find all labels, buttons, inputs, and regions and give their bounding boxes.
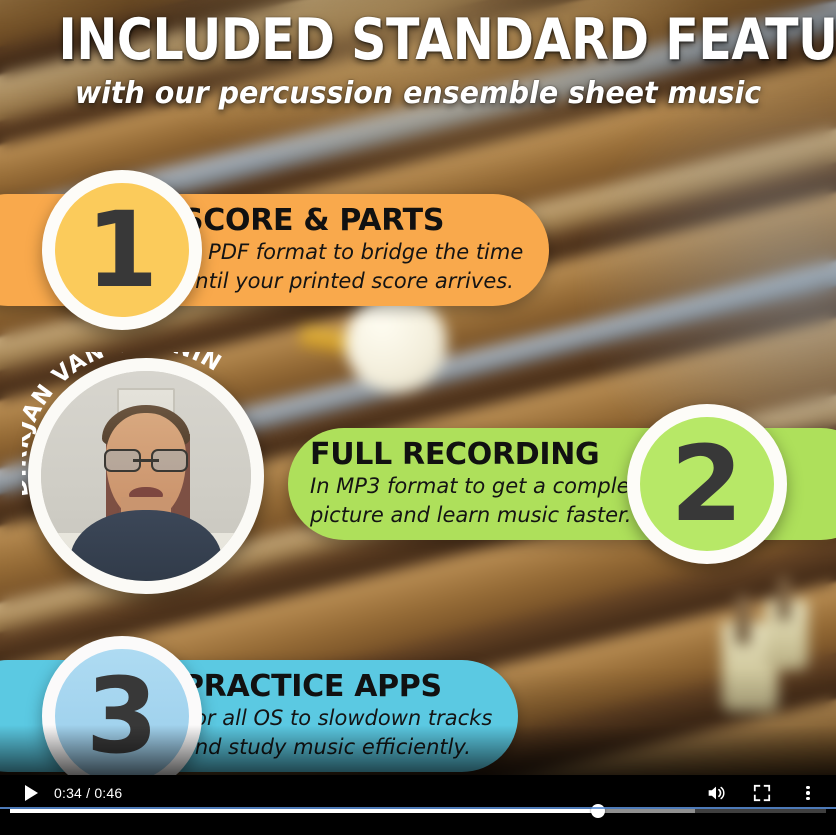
title-block: INCLUDED STANDARD FEATURES with our perc… — [0, 12, 836, 111]
page-title: INCLUDED STANDARD FEATURES — [59, 12, 778, 69]
feature-heading-3: PRACTICE APPS — [182, 671, 492, 703]
feature-heading-2: FULL RECORDING — [310, 439, 651, 471]
feature-number-1: 1 — [86, 198, 158, 302]
feature-text-2: FULL RECORDING In MP3 format to get a co… — [310, 439, 651, 528]
play-icon — [25, 785, 38, 801]
feature-item-1: 1 SCORE & PARTS In PDF format to bridge … — [42, 170, 549, 330]
time-display: 0:34 / 0:46 — [54, 785, 122, 801]
feature-desc-line2-1: until your printed score arrives. — [182, 268, 523, 295]
player-controls[interactable]: 0:34 / 0:46 — [0, 775, 836, 835]
more-options-icon — [806, 784, 810, 803]
feature-heading-1: SCORE & PARTS — [182, 205, 523, 237]
feature-number-2: 2 — [670, 432, 742, 536]
progress-played — [10, 809, 598, 813]
feature-desc-line1-2: In MP3 format to get a complete — [310, 473, 651, 500]
feature-text-1: SCORE & PARTS In PDF format to bridge th… — [182, 205, 523, 294]
progress-bar[interactable] — [0, 803, 836, 817]
volume-icon — [705, 782, 727, 804]
progress-accent-line — [0, 807, 836, 809]
page-subtitle: with our percussion ensemble sheet music — [21, 76, 815, 111]
feature-desc-line1-1: In PDF format to bridge the time — [182, 239, 523, 266]
presenter-video — [41, 371, 251, 581]
feature-number-circle-1: 1 — [42, 170, 202, 330]
video-player[interactable]: INCLUDED STANDARD FEATURES with our perc… — [0, 0, 836, 835]
feature-item-2: FULL RECORDING In MP3 format to get a co… — [288, 404, 787, 564]
feature-desc-line2-2: picture and learn music faster. — [310, 502, 651, 529]
feature-number-circle-2: 2 — [627, 404, 787, 564]
presenter-bubble: DIRKJAN VAN GRONINGEN — [28, 358, 264, 594]
fullscreen-icon — [753, 784, 771, 802]
